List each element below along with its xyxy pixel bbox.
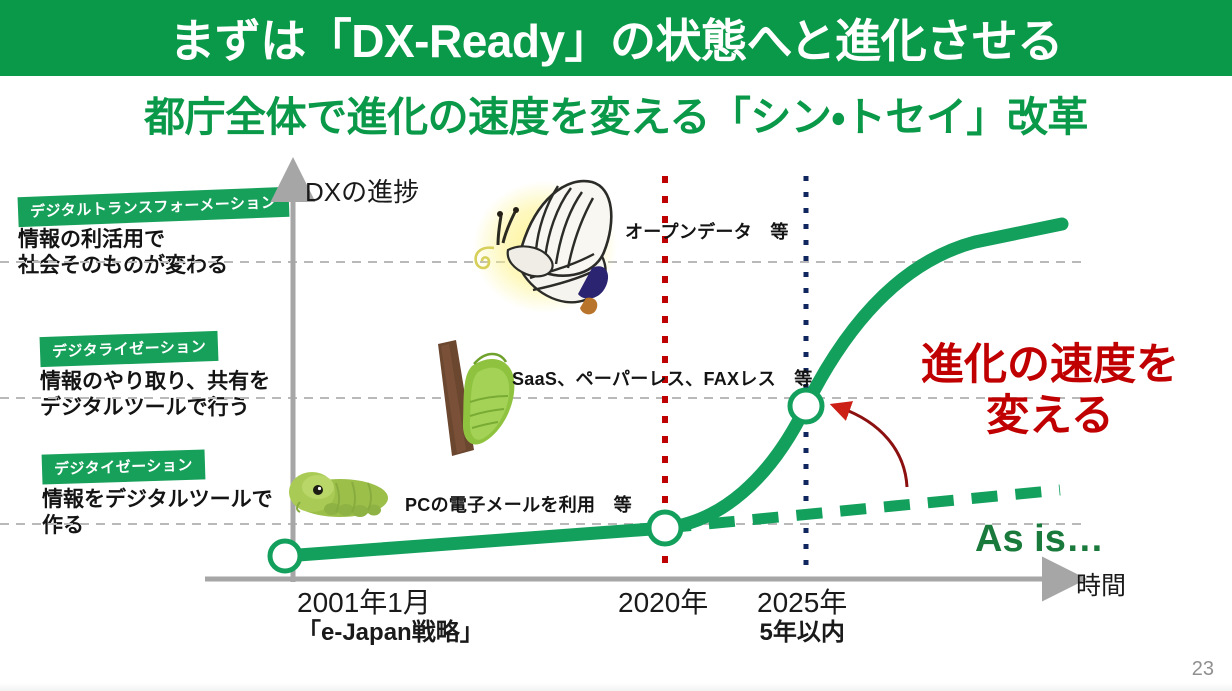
page-title: まずは「DX-Ready」の状態へと進化させる: [0, 2, 1232, 74]
xtick-2025-line2: 5年以内: [757, 619, 847, 647]
xtick-2001: 2001年1月 「e-Japan戦略」: [297, 588, 484, 646]
caterpillar-illustration: [289, 472, 388, 517]
xtick-2025: 2025年 5年以内: [757, 588, 847, 646]
xtick-2001-line2: 「e-Japan戦略」: [297, 619, 484, 647]
xtick-2020-line1: 2020年: [618, 588, 708, 619]
chrysalis-illustration: [438, 340, 514, 456]
annotation-saas: SaaS、ペーパーレス、FAXレス 等: [512, 365, 813, 391]
marker-2020: [649, 512, 681, 544]
xtick-2001-line1: 2001年1月: [297, 588, 484, 619]
slide-root: まずは「DX-Ready」の状態へと進化させる 都庁全体で進化の速度を変える「シ…: [0, 0, 1232, 691]
page-number: 23: [1192, 658, 1214, 681]
callout-change-speed: 進化の速度を 変える: [895, 340, 1205, 441]
x-axis-title: 時間: [1076, 566, 1126, 602]
y-axis-title: DXの進捗: [305, 172, 419, 209]
xtick-2020: 2020年: [618, 588, 708, 619]
callout-change-speed-line2: 変える: [895, 391, 1205, 442]
callout-change-speed-line1: 進化の速度を: [895, 340, 1205, 391]
annotation-open-data: オープンデータ 等: [625, 218, 789, 244]
page-subtitle: 都庁全体で進化の速度を変える「シン・トセイ」改革: [0, 82, 1232, 144]
xtick-2025-line1: 2025年: [757, 588, 847, 619]
marker-2001: [270, 541, 300, 571]
butterfly-illustration: [473, 181, 617, 314]
marker-2025: [790, 390, 822, 422]
as-is-label: As is…: [975, 518, 1104, 561]
annotation-pc-mail: PCの電子メールを利用 等: [405, 491, 632, 517]
footer-divider: [0, 683, 1232, 691]
